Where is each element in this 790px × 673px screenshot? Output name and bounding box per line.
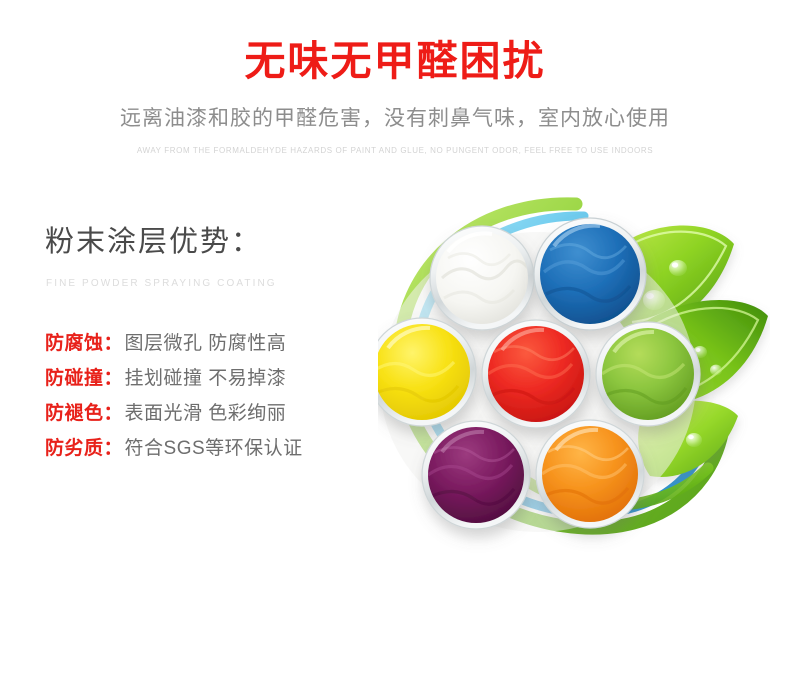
purple-powder-jar bbox=[422, 421, 530, 529]
feature-colon: ： bbox=[104, 398, 123, 425]
blue-powder-jar bbox=[534, 218, 646, 330]
yellow-powder-jar bbox=[378, 318, 476, 426]
page-title: 无味无甲醛困扰 bbox=[0, 36, 790, 86]
feature-label: 防褪色 bbox=[45, 398, 104, 425]
feature-colon: ： bbox=[104, 433, 123, 460]
product-image bbox=[378, 182, 770, 572]
orange-powder-jar bbox=[536, 420, 644, 528]
section-heading: 粉末涂层优势： bbox=[45, 222, 262, 262]
promo-page: 无味无甲醛困扰 远离油漆和胶的甲醛危害，没有刺鼻气味，室内放心使用 AWAY F… bbox=[0, 0, 790, 673]
feature-label: 防腐蚀 bbox=[45, 328, 104, 355]
water-droplet-icon bbox=[710, 365, 722, 376]
feature-item-anticorrosion: 防腐蚀 ： 图层微孔 防腐性高 bbox=[45, 328, 303, 363]
white-powder-jar bbox=[430, 226, 534, 330]
feature-item-fade-resistant: 防褪色 ： 表面光滑 色彩绚丽 bbox=[45, 398, 303, 433]
feature-value: 表面光滑 色彩绚丽 bbox=[125, 398, 287, 425]
feature-label: 防碰撞 bbox=[45, 363, 104, 390]
feature-colon: ： bbox=[104, 363, 123, 390]
feature-item-quality-certified: 防劣质 ： 符合SGS等环保认证 bbox=[45, 433, 303, 468]
section-heading-english: FINE POWDER SPRAYING COATING bbox=[46, 277, 277, 291]
feature-value: 挂划碰撞 不易掉漆 bbox=[125, 363, 287, 390]
feature-label: 防劣质 bbox=[45, 433, 104, 460]
page-subtitle: 远离油漆和胶的甲醛危害，没有刺鼻气味，室内放心使用 bbox=[0, 104, 790, 134]
feature-list: 防腐蚀 ： 图层微孔 防腐性高 防碰撞 ： 挂划碰撞 不易掉漆 防褪色 ： 表面… bbox=[45, 328, 303, 468]
feature-colon: ： bbox=[104, 328, 123, 355]
page-subtitle-english: AWAY FROM THE FORMALDEHYDE HAZARDS OF PA… bbox=[0, 145, 790, 157]
water-droplet-icon bbox=[669, 260, 687, 276]
water-droplet-icon bbox=[686, 433, 702, 447]
feature-value: 图层微孔 防腐性高 bbox=[125, 328, 287, 355]
green-powder-jar bbox=[596, 322, 700, 426]
red-powder-jar bbox=[482, 320, 590, 428]
feature-item-impact-resistant: 防碰撞 ： 挂划碰撞 不易掉漆 bbox=[45, 363, 303, 398]
feature-value: 符合SGS等环保认证 bbox=[125, 433, 303, 460]
